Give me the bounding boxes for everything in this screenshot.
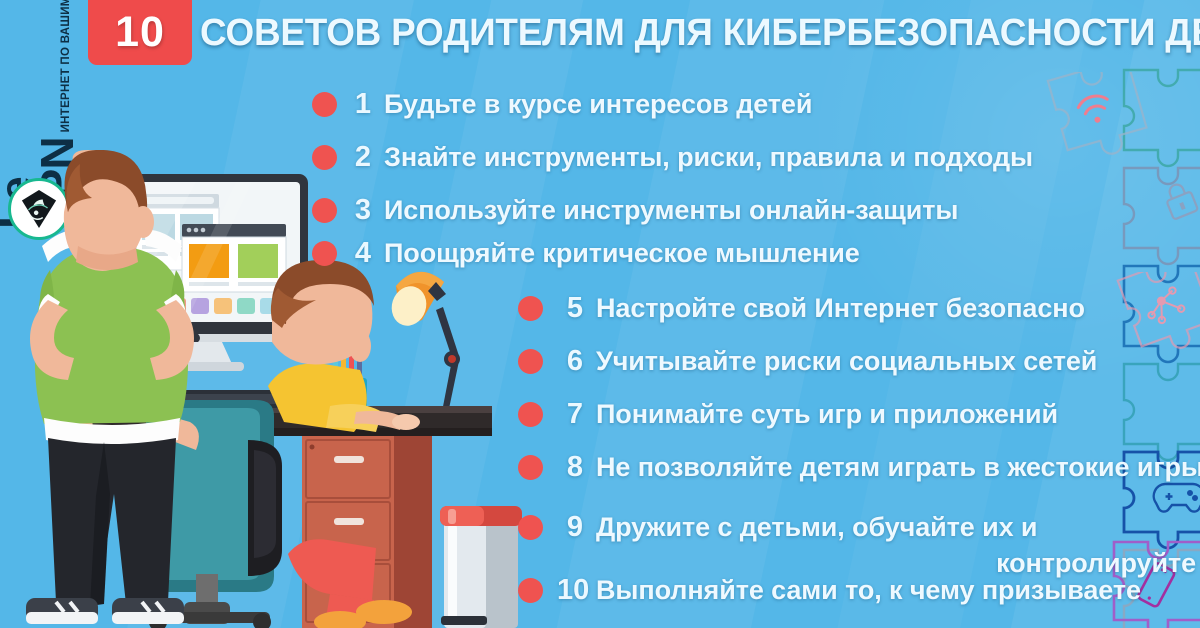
tip-text: Учитывайте риски социальных сетей: [596, 343, 1097, 379]
page-title: СОВЕТОВ РОДИТЕЛЯМ ДЛЯ КИБЕРБЕЗОПАСНОСТИ …: [200, 7, 1160, 59]
tip-text: Дружите с детьми, обучайте их и контроли…: [596, 509, 1196, 581]
tip-item-10[interactable]: 10 Выполняйте сами то, к чему призываете: [518, 572, 1141, 608]
tip-number: 7: [557, 396, 583, 432]
tip-number: 1: [351, 86, 371, 122]
tip-number: 2: [351, 139, 371, 175]
tip-number: 6: [557, 343, 583, 379]
bullet-dot: [312, 241, 337, 266]
tip-item-8[interactable]: 8 Не позволяйте детям играть в жестокие …: [518, 449, 1200, 485]
puzzle-piece-wifi: [1030, 72, 1150, 182]
tip-text: Не позволяйте детям играть в жестокие иг…: [596, 449, 1200, 485]
tip-item-3[interactable]: 3 Используйте инструменты онлайн-защиты: [312, 192, 958, 228]
bullet-dot: [518, 349, 543, 374]
bullet-dot: [518, 296, 543, 321]
bullet-dot: [518, 402, 543, 427]
wifi-icon: [1076, 93, 1112, 127]
tip-item-4[interactable]: 4 Поощряйте критическое мышление: [312, 235, 860, 271]
bullet-dot: [518, 515, 543, 540]
bullet-dot: [312, 92, 337, 117]
infographic-canvas: Le VPN ИНТЕРНЕТ ПО ВАШИМ ПРАВИЛАМ 10 СОВ…: [0, 0, 1200, 628]
bullet-dot: [312, 145, 337, 170]
tip-number: 10: [557, 572, 583, 608]
bullet-dot: [312, 198, 337, 223]
brand-tagline: ИНТЕРНЕТ ПО ВАШИМ ПРАВИЛАМ: [61, 0, 78, 132]
gamepad-icon: [1154, 484, 1200, 512]
tip-item-7[interactable]: 7 Понимайте суть игр и приложений: [518, 396, 1058, 432]
lock-icon: [1162, 180, 1198, 219]
tip-item-5[interactable]: 5 Настройте свой Интернет безопасно: [518, 290, 1085, 326]
tip-text: Понимайте суть игр и приложений: [596, 396, 1058, 432]
tip-text: Поощряйте критическое мышление: [384, 235, 860, 271]
tip-text-line-1: Дружите с детьми, обучайте их и: [596, 512, 1037, 542]
tip-text: Выполняйте сами то, к чему призываете: [596, 572, 1141, 608]
tip-text: Используйте инструменты онлайн-защиты: [384, 192, 958, 228]
desk-lamp-icon: [387, 272, 460, 428]
tip-number: 9: [557, 509, 583, 545]
tip-number: 3: [351, 192, 371, 228]
bullet-dot: [518, 455, 543, 480]
tip-item-9[interactable]: 9 Дружите с детьми, обучайте их и контро…: [518, 509, 1196, 581]
tip-number: 8: [557, 449, 583, 485]
tip-text: Знайте инструменты, риски, правила и под…: [384, 139, 1033, 175]
count-badge: 10: [88, 0, 192, 65]
tip-item-2[interactable]: 2 Знайте инструменты, риски, правила и п…: [312, 139, 1033, 175]
tip-text: Будьте в курсе интересов детей: [384, 86, 812, 122]
bullet-dot: [518, 578, 543, 603]
count-badge-number: 10: [115, 8, 165, 57]
network-share-icon: [1142, 286, 1187, 327]
tip-text: Настройте свой Интернет безопасно: [596, 290, 1085, 326]
tip-item-6[interactable]: 6 Учитывайте риски социальных сетей: [518, 343, 1097, 379]
puzzle-piece-network: [1108, 272, 1200, 382]
tip-item-1[interactable]: 1 Будьте в курсе интересов детей: [312, 86, 812, 122]
trash-can: [440, 506, 522, 628]
tip-number: 4: [351, 235, 371, 271]
puzzle-piece-lock: [1124, 168, 1200, 264]
tip-number: 5: [557, 290, 583, 326]
